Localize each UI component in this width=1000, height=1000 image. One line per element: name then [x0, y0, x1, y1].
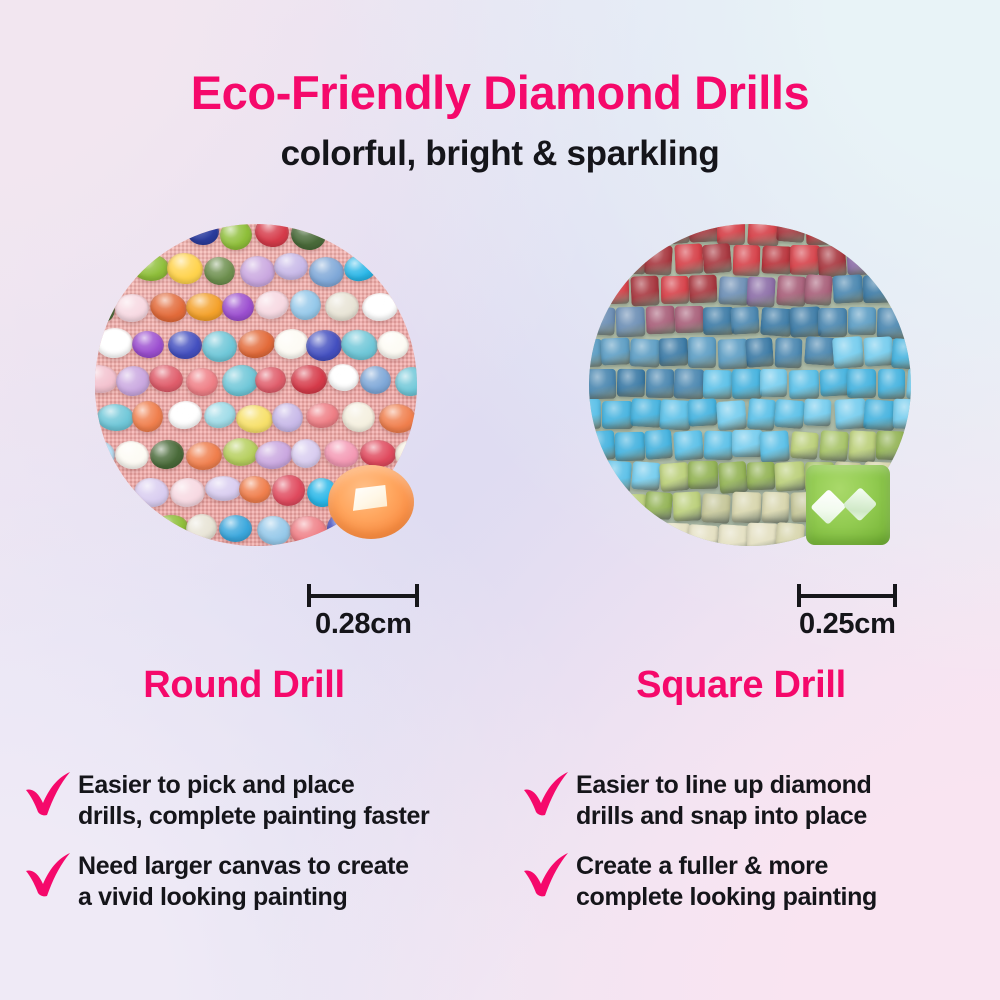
- gem: [848, 431, 877, 463]
- gem: [615, 432, 645, 462]
- gem: [703, 431, 733, 460]
- gem: [789, 306, 821, 337]
- gem: [847, 246, 876, 276]
- gem: [673, 369, 704, 400]
- square-drill-benefits: Easier to line up diamond drills and sna…: [520, 768, 1000, 930]
- gem: [834, 398, 866, 430]
- gem: [716, 524, 749, 546]
- gem: [730, 306, 760, 335]
- gem: [774, 461, 805, 492]
- gem: [589, 368, 616, 399]
- gem: [630, 275, 659, 306]
- gem: [629, 338, 660, 367]
- gem: [803, 274, 833, 306]
- rule-cap-left: [797, 584, 801, 607]
- gem: [658, 522, 690, 546]
- gem: [761, 491, 789, 523]
- gem: [600, 337, 630, 366]
- gem: [644, 491, 674, 521]
- gem: [759, 430, 790, 462]
- square-drill-photo-wrap: [575, 222, 915, 562]
- gem: [875, 430, 905, 459]
- gem: [223, 438, 259, 466]
- gem: [775, 522, 805, 546]
- square-measure-label: 0.25cm: [799, 608, 896, 641]
- gem: [602, 401, 633, 429]
- bullet-line-2: drills and snap into place: [576, 802, 867, 830]
- bullet-line-1: Easier to line up diamond: [576, 771, 871, 799]
- gem: [819, 368, 851, 397]
- gem: [832, 274, 864, 304]
- gem: [819, 430, 849, 462]
- gem: [688, 461, 718, 489]
- gem: [775, 338, 803, 369]
- gem: [892, 398, 911, 429]
- gem: [615, 306, 644, 337]
- gem: [701, 493, 731, 524]
- gem: [817, 245, 847, 278]
- round-measure-rule: [307, 584, 419, 606]
- gem: [747, 224, 779, 246]
- gem: [776, 275, 807, 306]
- gem: [616, 494, 646, 526]
- gem: [602, 460, 632, 493]
- list-item-text: Easier to line up diamond drills and sna…: [576, 768, 871, 831]
- round-measurement: 0.28cm: [85, 572, 425, 644]
- list-item: Create a fuller & more complete looking …: [520, 849, 1000, 912]
- gem: [658, 224, 691, 245]
- bullet-line-1: Create a fuller & more: [576, 852, 828, 880]
- gem: [602, 276, 630, 304]
- rule-cap-right: [893, 584, 897, 607]
- square-drill-column: 0.25cm Square Drill: [510, 222, 980, 707]
- gem: [674, 243, 703, 274]
- bullet-line-1: Need larger canvas to create: [78, 852, 409, 880]
- list-item-text: Need larger canvas to create a vivid loo…: [78, 849, 409, 912]
- gem: [717, 224, 745, 245]
- gem: [863, 336, 894, 366]
- gem: [644, 429, 673, 459]
- gem: [718, 276, 750, 305]
- gem: [672, 492, 701, 522]
- bullet-line-1: Easier to pick and place: [78, 771, 354, 799]
- gem: [775, 224, 805, 243]
- square-gem-icon: [806, 465, 890, 545]
- gem: [746, 461, 775, 490]
- gem: [661, 276, 690, 304]
- gem: [219, 514, 253, 542]
- gem: [630, 398, 662, 428]
- gem: [645, 306, 675, 335]
- gem: [675, 306, 704, 334]
- check-icon: [22, 770, 78, 822]
- gem: [863, 275, 894, 304]
- gem: [360, 366, 391, 395]
- gem: [631, 461, 661, 491]
- gem: [877, 308, 908, 339]
- gem: [589, 430, 616, 461]
- gem: [716, 400, 747, 431]
- gem: [646, 369, 674, 398]
- gem: [732, 430, 763, 457]
- gem: [760, 368, 787, 396]
- gem: [890, 338, 911, 370]
- gem: [747, 277, 776, 308]
- gem: [688, 337, 716, 368]
- gem: [804, 336, 836, 366]
- bullet-line-2: complete looking painting: [576, 883, 877, 911]
- gem: [847, 369, 876, 398]
- page-subtitle: colorful, bright & sparkling: [0, 134, 1000, 174]
- gem: [167, 331, 202, 359]
- gem: [702, 243, 732, 274]
- check-icon: [520, 851, 576, 903]
- square-drill-title: Square Drill: [510, 664, 980, 707]
- rule-cap-left: [307, 584, 311, 607]
- gem: [806, 224, 835, 245]
- list-item-text: Create a fuller & more complete looking …: [576, 849, 877, 912]
- list-item: Need larger canvas to create a vivid loo…: [22, 849, 522, 912]
- gem: [774, 399, 805, 429]
- gem: [718, 461, 748, 494]
- list-item: Easier to line up diamond drills and sna…: [520, 768, 1000, 831]
- gem: [760, 307, 793, 337]
- page-title: Eco-Friendly Diamond Drills: [0, 68, 1000, 117]
- gem: [762, 245, 794, 274]
- round-gem-icon: [328, 465, 414, 539]
- list-item: Easier to pick and place drills, complet…: [22, 768, 522, 831]
- round-drill-title: Round Drill: [20, 664, 490, 707]
- gem: [804, 398, 832, 426]
- gem: [202, 330, 237, 361]
- gem: [688, 224, 720, 243]
- square-measurement: 0.25cm: [575, 572, 915, 644]
- gem: [659, 338, 689, 367]
- gem: [717, 339, 748, 370]
- gem: [689, 275, 717, 304]
- gem: [878, 369, 905, 399]
- square-measure-rule: [797, 584, 897, 606]
- gem: [616, 368, 645, 397]
- gem: [745, 337, 774, 367]
- round-drill-column: 0.28cm Round Drill: [20, 222, 490, 707]
- bullet-line-2: a vivid looking painting: [78, 883, 347, 911]
- gem: [589, 306, 616, 336]
- bullet-line-2: drills, complete painting faster: [78, 802, 429, 830]
- gem: [848, 307, 876, 336]
- gem: [731, 369, 762, 399]
- gem: [702, 370, 732, 400]
- round-measure-label: 0.28cm: [315, 608, 412, 641]
- gem: [790, 431, 819, 460]
- gem: [832, 336, 864, 369]
- gem: [687, 524, 719, 546]
- rule-cap-right: [415, 584, 419, 607]
- gem: [616, 246, 647, 275]
- check-icon: [22, 851, 78, 903]
- list-item-text: Easier to pick and place drills, complet…: [78, 768, 429, 831]
- round-drill-benefits: Easier to pick and place drills, complet…: [22, 768, 522, 930]
- rule-bar: [307, 594, 419, 598]
- gem: [644, 244, 673, 276]
- gem: [658, 462, 689, 492]
- gem: [687, 399, 717, 428]
- gem: [863, 398, 896, 430]
- gem: [747, 398, 777, 431]
- gem: [239, 256, 274, 288]
- gem: [731, 491, 761, 523]
- gem: [205, 476, 242, 502]
- gem: [789, 370, 820, 399]
- header: Eco-Friendly Diamond Drills colorful, br…: [0, 0, 1000, 174]
- gem: [732, 245, 760, 277]
- gem: [790, 245, 820, 275]
- gem: [746, 522, 778, 546]
- round-drill-photo-wrap: [85, 222, 425, 562]
- check-icon: [520, 770, 576, 822]
- gem: [673, 430, 704, 461]
- rule-bar: [797, 594, 897, 598]
- gem: [589, 399, 601, 429]
- gem: [818, 308, 847, 337]
